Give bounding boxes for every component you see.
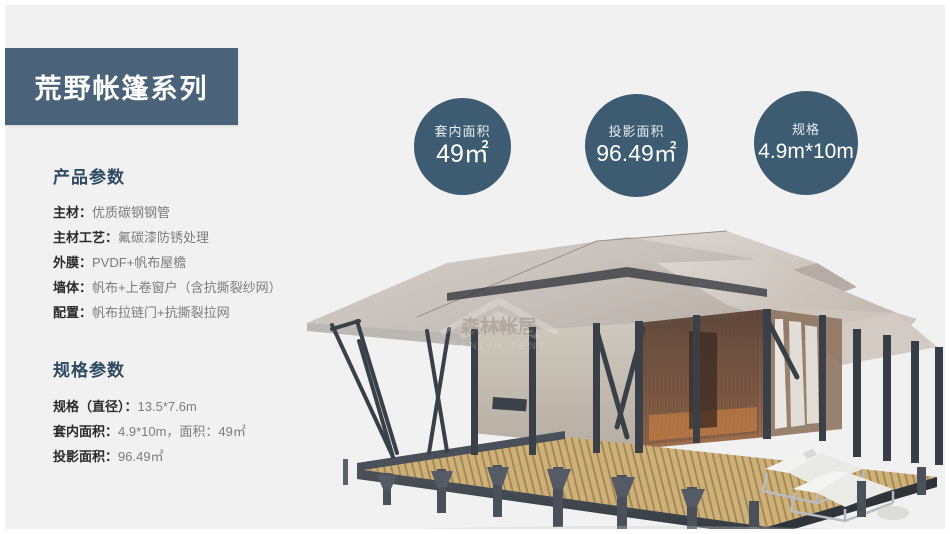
badge-label: 套内面积 <box>434 125 490 139</box>
param-label: 配置： <box>53 305 92 320</box>
param-value: 帆布拉链门+抗撕裂拉网 <box>92 305 230 320</box>
tent-render-image <box>297 201 950 534</box>
badge-value: 96.49㎡ <box>596 141 677 166</box>
param-label: 主材： <box>53 205 92 220</box>
badge-value: 4.9m*10m <box>758 140 854 163</box>
param-label: 套内面积： <box>53 424 118 439</box>
param-value: 优质碳钢钢管 <box>92 205 170 220</box>
badge-label: 投影面积 <box>608 125 664 139</box>
param-label: 主材工艺： <box>53 230 118 245</box>
badge-value: 49㎡ <box>436 141 489 169</box>
stat-badge-interior-area: 套内面积 49㎡ <box>414 98 511 195</box>
badge-label: 规格 <box>792 123 820 137</box>
param-value: 帆布+上卷窗户（含抗撕裂纱网） <box>92 280 282 295</box>
param-value: 氟碳漆防锈处理 <box>118 230 209 245</box>
param-value: 13.5*7.6m <box>138 399 197 414</box>
param-label: 外膜： <box>53 255 92 270</box>
product-params-heading: 产品参数 <box>53 168 353 188</box>
slide-page: 荒野帐篷系列 产品参数 主材：优质碳钢钢管 主材工艺：氟碳漆防锈处理 外膜：PV… <box>0 0 950 534</box>
param-label: 墙体： <box>53 280 92 295</box>
tent-render-svg <box>297 201 950 534</box>
param-value: PVDF+帆布屋檐 <box>92 255 186 270</box>
stat-badge-dimensions: 规格 4.9m*10m <box>754 91 858 195</box>
param-label: 投影面积： <box>53 449 118 464</box>
stat-badge-projected-area: 投影面积 96.49㎡ <box>585 94 688 197</box>
param-value: 96.49㎡ <box>118 449 164 464</box>
param-label: 规格（直径）： <box>53 399 138 414</box>
param-value: 4.9*10m，面积：49㎡ <box>118 424 246 439</box>
title-banner: 荒野帐篷系列 <box>5 48 238 125</box>
page-title: 荒野帐篷系列 <box>35 67 209 106</box>
